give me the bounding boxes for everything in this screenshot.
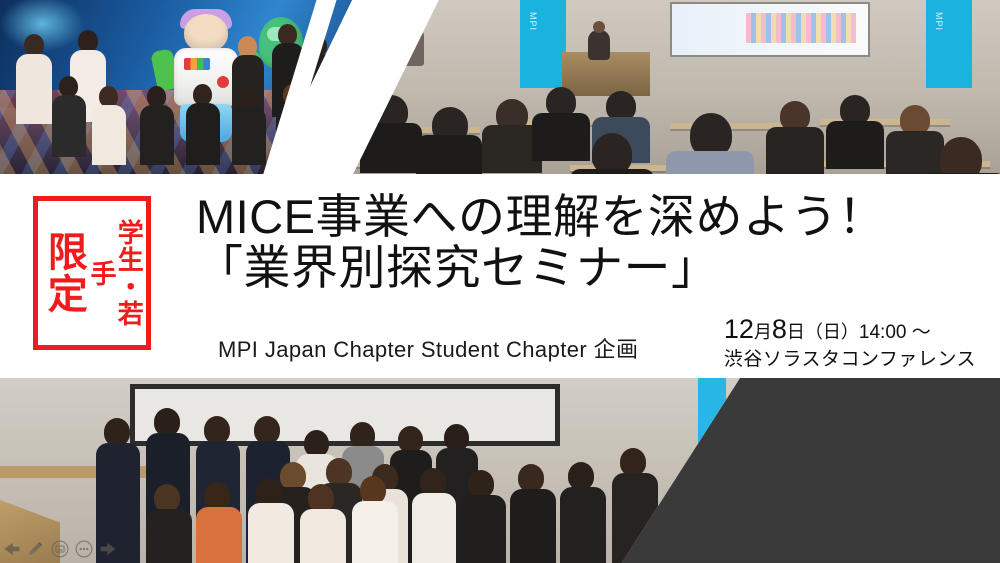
event-day-unit: 日: [787, 322, 805, 342]
back-arrow-icon[interactable]: [2, 539, 22, 559]
event-date-line: 12月8日（日）14:00 ～: [724, 313, 976, 347]
headline-line-1: MICE事業への理解を深めよう！: [196, 190, 886, 243]
classroom-group-photo: [0, 378, 740, 563]
bottom-photo-band: MPI JAPAN CHAPTER: [0, 378, 1000, 563]
event-weekday: （日）: [805, 322, 859, 342]
limited-seal-stamp: 学生・若手 限定: [33, 196, 151, 350]
event-date-block: 12月8日（日）14:00 ～ 渋谷ソラスタコンファレンス: [724, 313, 976, 372]
top-photo-band: [0, 0, 1000, 174]
event-day-number: 8: [772, 314, 787, 344]
slide-canvas: 学生・若手 限定 MICE事業への理解を深めよう！ 「業界別探究セミナー」 MP…: [0, 0, 1000, 563]
speaker-figure: [588, 30, 610, 60]
headline-line-2: 「業界別探究セミナー」: [196, 241, 886, 294]
seal-text-right: 学生・若手: [87, 206, 142, 340]
event-venue: 渋谷ソラスタコンファレンス: [724, 347, 976, 373]
forward-arrow-icon[interactable]: [98, 539, 118, 559]
seal-text-left: 限定: [43, 231, 85, 315]
projection-screen: [670, 2, 870, 57]
seminar-room-photo: [340, 0, 1000, 174]
classroom-mpi-banner: [698, 378, 726, 498]
more-options-icon[interactable]: [74, 539, 94, 559]
audience-desks: [340, 73, 1000, 174]
classroom-screen: [130, 384, 560, 446]
event-month-unit: 月: [754, 322, 772, 342]
presenter-figure: [400, 28, 424, 66]
pencil-icon[interactable]: [26, 539, 46, 559]
page-title: MICE事業への理解を深めよう！ 「業界別探究セミナー」: [196, 190, 886, 294]
slide-toolbar[interactable]: [2, 539, 118, 559]
event-time: 14:00 ～: [859, 322, 931, 343]
subtitle: MPI Japan Chapter Student Chapter 企画: [218, 332, 638, 364]
event-month-number: 12: [724, 314, 754, 344]
present-icon[interactable]: [50, 539, 70, 559]
